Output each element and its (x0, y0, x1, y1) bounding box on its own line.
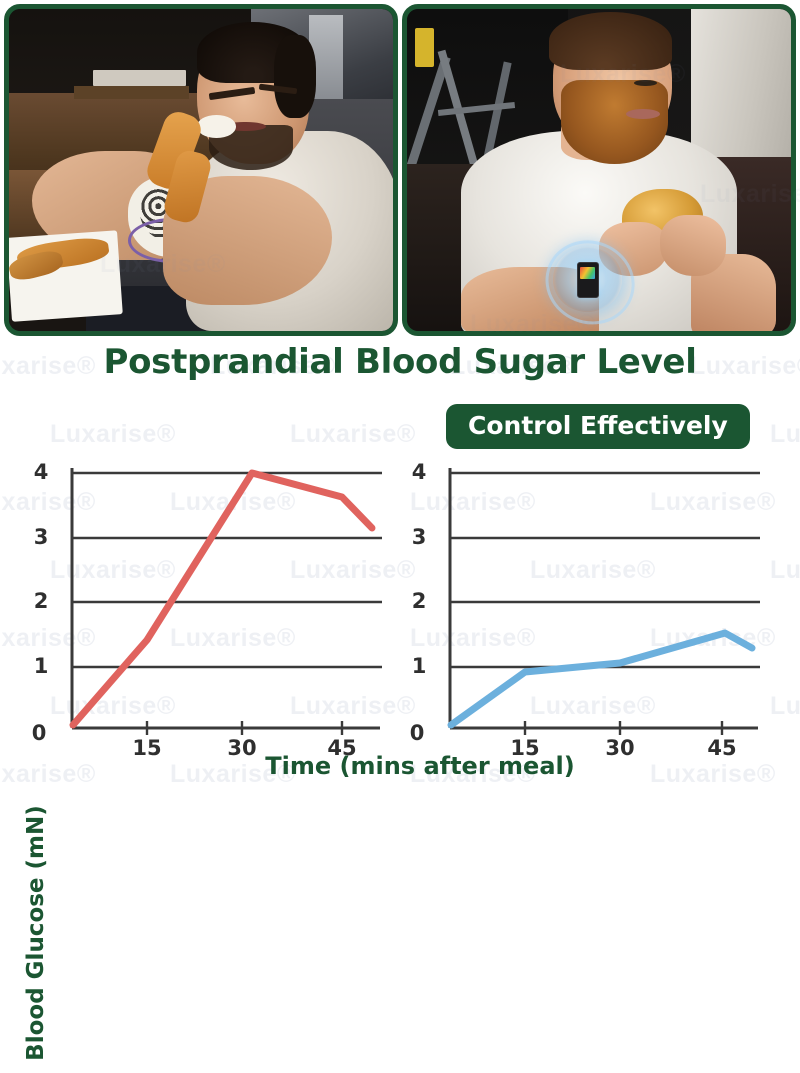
xtick-label-15: 15 (125, 736, 169, 760)
series-spike-line (73, 473, 372, 725)
ytick-label-3: 3 (406, 525, 432, 549)
charts-area: Blood Glucose (mN) 4 3 2 (0, 440, 800, 800)
ytick-label-0: 0 (404, 721, 430, 745)
ytick-label-2: 2 (28, 589, 54, 613)
chart-controlled-svg (440, 460, 760, 740)
photo-row (0, 0, 800, 340)
ytick-label-0: 0 (26, 721, 52, 745)
y-axis-title: Blood Glucose (mN) (23, 793, 49, 1073)
ytick-label-1: 1 (406, 654, 432, 678)
chart-controlled: 4 3 2 1 0 15 30 45 (440, 460, 760, 740)
xtick-label-45: 45 (700, 736, 744, 760)
ytick-label-4: 4 (406, 460, 432, 484)
ytick-label-4: 4 (28, 460, 54, 484)
photo-before-eating-junk-food (4, 4, 398, 336)
page-title: Postprandial Blood Sugar Level (0, 344, 800, 381)
chart-spike-svg (62, 460, 382, 740)
ytick-label-2: 2 (406, 589, 432, 613)
ytick-label-3: 3 (28, 525, 54, 549)
promo-page: Postprandial Blood Sugar Level Control E… (0, 0, 800, 800)
x-axis-title: Time (mins after meal) (180, 752, 660, 780)
ytick-label-1: 1 (28, 654, 54, 678)
series-controlled-line (451, 633, 752, 725)
chart-spike: 4 3 2 1 0 15 30 45 (62, 460, 382, 740)
status-badge: Control Effectively (446, 404, 750, 449)
photo-after-wearing-device (402, 4, 796, 336)
